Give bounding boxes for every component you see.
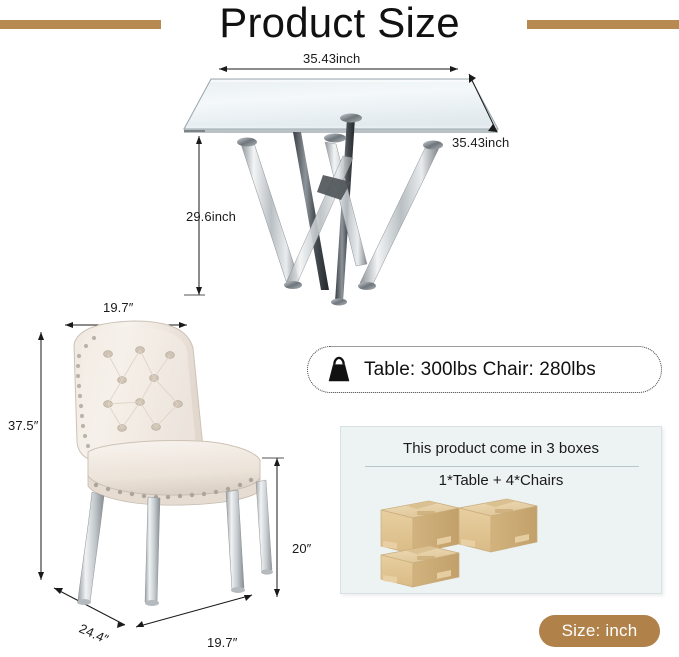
chair-height-arrow (38, 332, 44, 580)
chair-height-label: 37.5″ (8, 418, 38, 433)
packaging-divider (365, 466, 639, 467)
table-height-label: 29.6inch (186, 209, 236, 224)
size-unit-text: Size: inch (562, 621, 638, 641)
chair-bottom-width-label: 19.7″ (207, 635, 237, 650)
table-width-label: 35.43inch (303, 51, 360, 66)
size-unit-badge: Size: inch (539, 615, 660, 647)
weight-capacity-badge: Table: 300lbs Chair: 280lbs (307, 346, 662, 393)
weight-capacity-text: Table: 300lbs Chair: 280lbs (364, 359, 596, 381)
box-2 (459, 499, 537, 552)
weight-kettlebell-icon (324, 355, 354, 385)
table-width-arrow (219, 66, 458, 72)
table-depth-label: 35.43inch (452, 135, 509, 150)
packaging-panel: This product come in 3 boxes 1*Table + 4… (340, 426, 662, 594)
chair-illustration (30, 300, 320, 650)
packaging-boxes-illustration (355, 497, 649, 589)
page-title: Product Size (0, 0, 679, 47)
packaging-subtitle: 1*Table + 4*Chairs (341, 472, 661, 489)
chair-seat-height-label: 20″ (292, 541, 311, 556)
chair-width-label: 19.7″ (103, 300, 133, 315)
table-leg-group (237, 114, 443, 306)
box-3 (381, 546, 459, 587)
packaging-title: This product come in 3 boxes (341, 440, 661, 457)
product-size-infographic: Product Size (0, 0, 679, 657)
chair-body (74, 321, 260, 505)
glass-tabletop (184, 79, 498, 133)
table-illustration (175, 52, 505, 317)
box-1 (381, 501, 459, 554)
